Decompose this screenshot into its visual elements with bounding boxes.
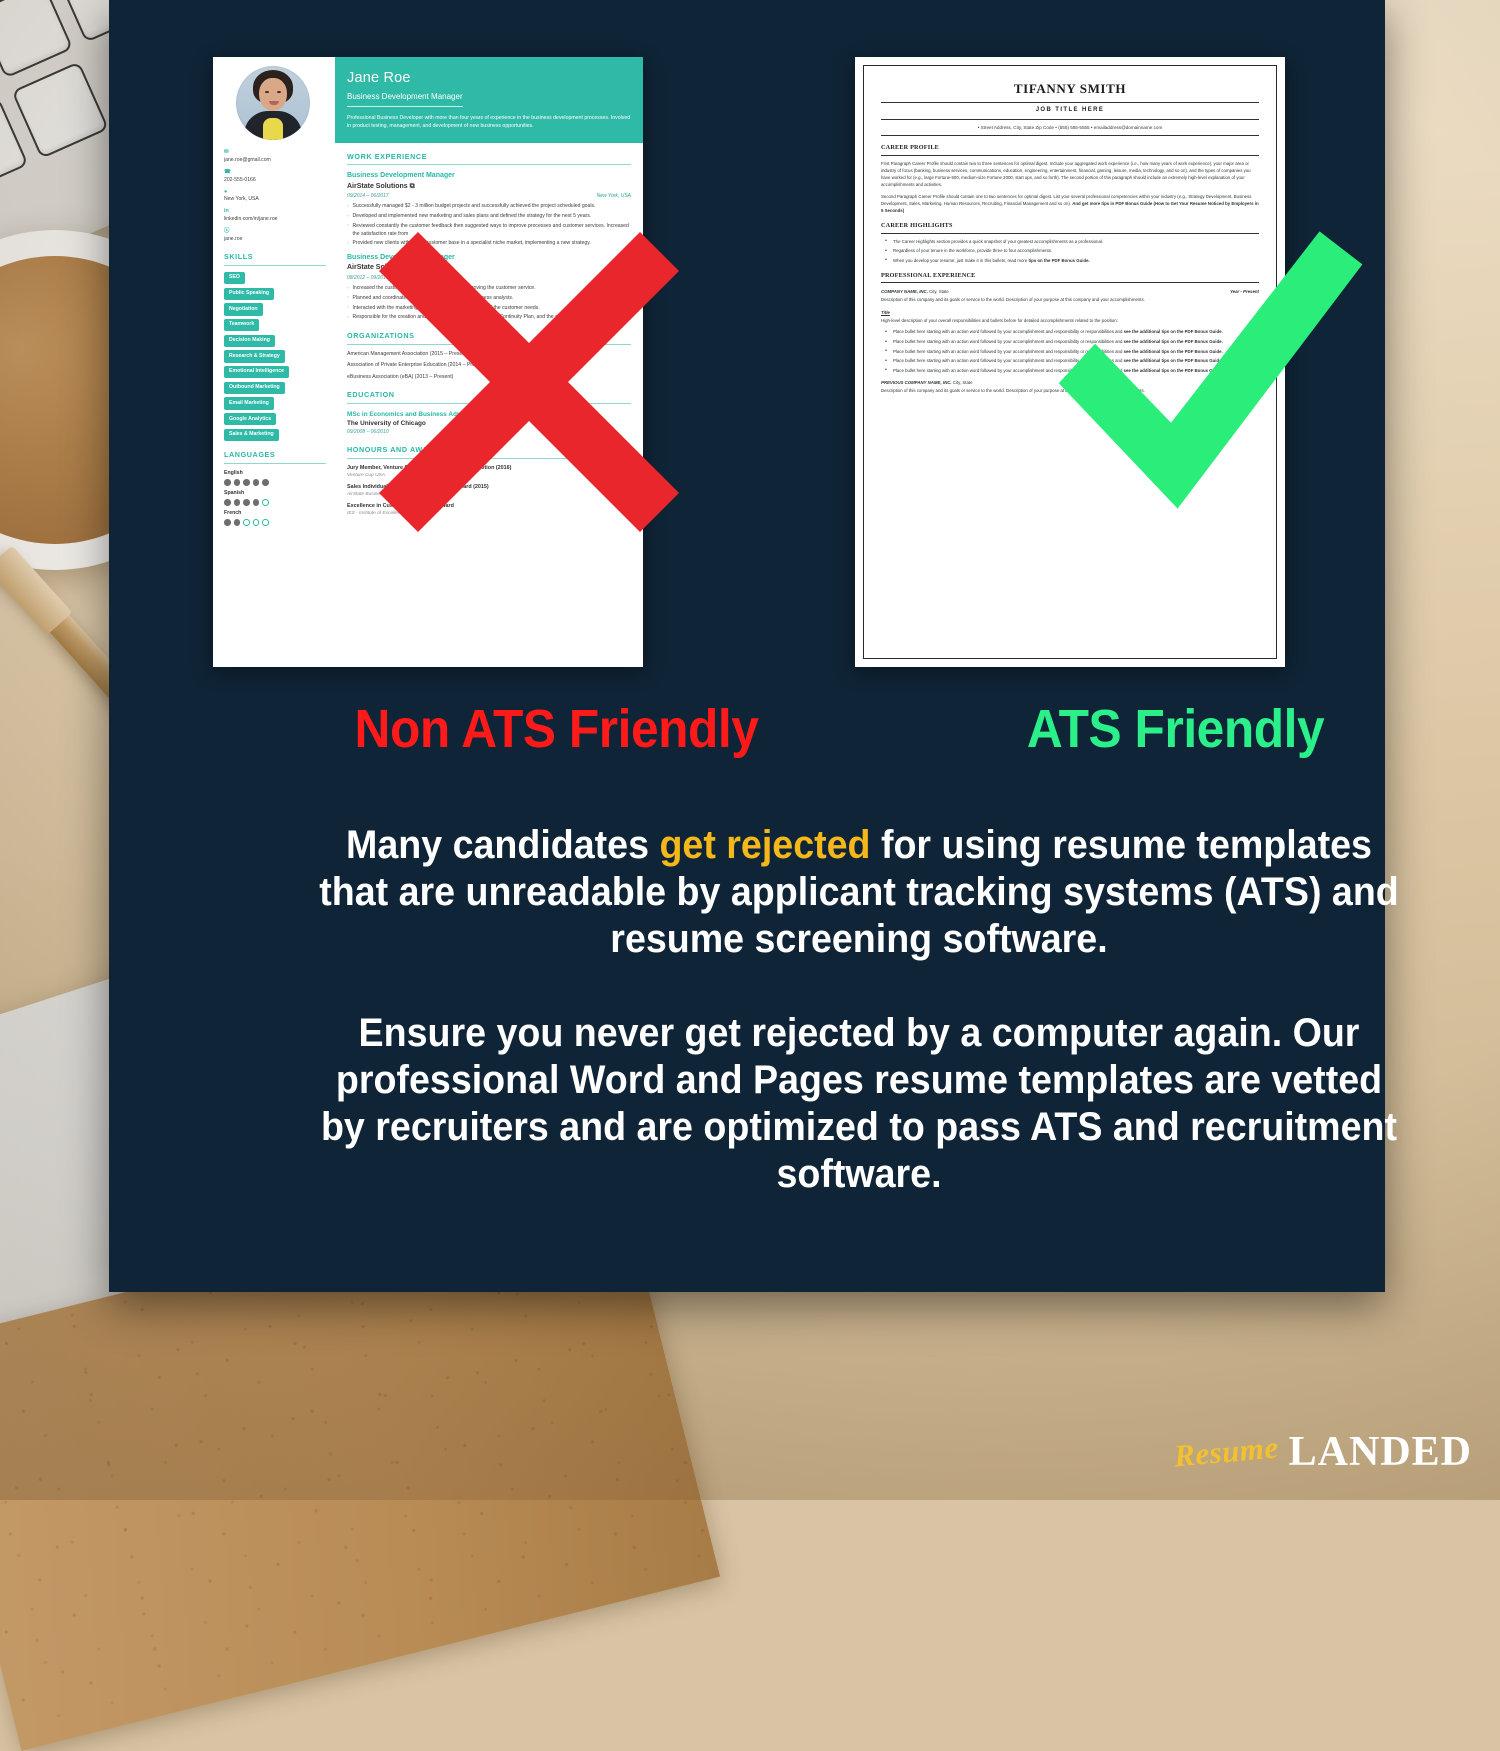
contact-item-linkedin[interactable]: in linkedin.com/in/jane.roe bbox=[224, 209, 326, 223]
ats-highlight-text: When you develop your resume, just make … bbox=[893, 258, 1028, 263]
award-title: Jury Member, Venture Cup Entrepreneurshi… bbox=[347, 465, 631, 473]
skill-tag: Teamwork bbox=[224, 319, 259, 331]
ats-highlight-text: The Career Highlights section provides a… bbox=[893, 239, 1103, 244]
level-dot bbox=[224, 479, 231, 486]
job-dates: 09/2014 – 06/2017 bbox=[347, 193, 389, 200]
skill-tag: Decision Making bbox=[224, 335, 275, 347]
contact-item-location[interactable]: ● New York, USA bbox=[224, 190, 326, 204]
ats-title-desc: High-level description of your overall r… bbox=[881, 317, 1259, 324]
job-company: AirState Solutions ⧉ bbox=[347, 182, 631, 192]
copy-p1-part-a: Many candidates bbox=[346, 823, 659, 867]
languages-heading: LANGUAGES bbox=[224, 450, 326, 463]
ats-highlights-heading: CAREER HIGHLIGHTS bbox=[881, 221, 1259, 234]
skill-tag: Research & Strategy bbox=[224, 350, 285, 362]
skill-tag: Email Marketing bbox=[224, 397, 274, 409]
language-level-dots bbox=[224, 479, 326, 486]
ats-experience-bullet: Place bullet here starting with an actio… bbox=[881, 367, 1259, 374]
copy-p1-highlight: get rejected bbox=[659, 823, 870, 867]
ats-company-2-years: Year - Present bbox=[1230, 379, 1259, 386]
resume-header-banner: Jane Roe Business Development Manager Pr… bbox=[335, 57, 643, 143]
work-experience-list: Business Development ManagerAirState Sol… bbox=[347, 171, 631, 322]
ats-company-1-years: Year - Present bbox=[1230, 288, 1259, 295]
ats-highlight-bullet: When you develop your resume, just make … bbox=[881, 257, 1259, 264]
ats-highlight-bold: tips on the PDF Bonus Guide. bbox=[1028, 258, 1089, 263]
ats-experience-bullets: Place bullet here starting with an actio… bbox=[881, 328, 1259, 374]
job-bullet: Responsible for the creation and impleme… bbox=[347, 314, 631, 322]
education-heading: EDUCATION bbox=[347, 390, 631, 403]
language-item: French bbox=[224, 510, 326, 526]
level-dot bbox=[224, 519, 231, 526]
ats-experience-bullet: Place bullet here starting with an actio… bbox=[881, 338, 1259, 345]
ats-bullet-text: Place bullet here starting with an actio… bbox=[893, 329, 1124, 334]
awards-list: Jury Member, Venture Cup Entrepreneurshi… bbox=[347, 465, 631, 518]
work-experience-item: Business Development ManagerAirState Sol… bbox=[347, 253, 631, 322]
copy-paragraph-1: Many candidates get rejected for using r… bbox=[319, 822, 1400, 962]
job-bullet: Developed and implemented new marketing … bbox=[347, 213, 631, 221]
creative-resume-page: ✉ jane.roe@gmail.com ☎ 202-555-0166 ● Ne… bbox=[213, 57, 643, 667]
language-name: Spanish bbox=[224, 490, 326, 498]
ats-resume-preview[interactable]: TIFANNY SMITH JOB TITLE HERE • Street Ad… bbox=[855, 57, 1285, 667]
navy-content-panel: ✉ jane.roe@gmail.com ☎ 202-555-0166 ● Ne… bbox=[109, 0, 1385, 1292]
ats-career-profile-p2: Second Paragraph Career Profile should c… bbox=[881, 193, 1259, 214]
ats-experience-bullet: Place bullet here starting with an actio… bbox=[881, 357, 1259, 364]
resume-summary: Professional Business Developer with mor… bbox=[347, 114, 631, 131]
skills-heading: SKILLS bbox=[224, 252, 326, 265]
job-bullet: Planned and coordinated the daily activi… bbox=[347, 295, 631, 303]
organization-item: American Management Association (2015 – … bbox=[347, 351, 631, 359]
language-level-dots bbox=[224, 519, 326, 526]
ats-experience-bullet: Place bullet here starting with an actio… bbox=[881, 328, 1259, 335]
award-org: IES - Institute of Excellence in Sales bbox=[347, 511, 631, 518]
logo-word-landed: LANDED bbox=[1289, 1428, 1472, 1476]
organization-item: Association of Private Enterprise Educat… bbox=[347, 362, 631, 370]
ats-resume-page: TIFANNY SMITH JOB TITLE HERE • Street Ad… bbox=[855, 57, 1285, 667]
logo-word-resume: Resume bbox=[1173, 1430, 1280, 1475]
job-meta: 08/2012 – 09/2014Chicago, USA bbox=[347, 275, 631, 282]
skills-tag-list: SEOPublic SpeakingNegotiationTeamworkDec… bbox=[224, 272, 326, 441]
ats-contact-line: • Street Address, City, State Zip Code •… bbox=[881, 120, 1259, 136]
job-company: AirState Solutions bbox=[347, 263, 631, 273]
ats-company-2-name-text: PREVIOUS COMPANY NAME, INC. bbox=[881, 380, 952, 385]
contact-email-text: jane.roe@gmail.com bbox=[224, 157, 326, 164]
level-dot bbox=[262, 519, 269, 526]
skill-tag: Emotional Intelligence bbox=[224, 366, 289, 378]
ats-highlight-bullet: Regardless of your tenure in the workfor… bbox=[881, 247, 1259, 254]
resume-job-title: Business Development Manager bbox=[347, 91, 463, 107]
language-level-dots bbox=[224, 499, 326, 506]
brand-logo[interactable]: Resume LANDED bbox=[1174, 1428, 1472, 1476]
non-ats-label: Non ATS Friendly bbox=[355, 698, 759, 760]
resume-main-column: Jane Roe Business Development Manager Pr… bbox=[335, 57, 643, 667]
level-dot bbox=[243, 479, 250, 486]
resume-name: Jane Roe bbox=[347, 68, 631, 89]
ats-bullet-text: Place bullet here starting with an actio… bbox=[893, 368, 1124, 373]
ats-company-1-name: COMPANY NAME, INC. City, State bbox=[881, 288, 949, 295]
level-dot bbox=[253, 479, 260, 486]
education-entry: MSc in Economics and Business Administra… bbox=[347, 410, 631, 437]
organization-item: eBusiness Association (eBA) (2013 – Pres… bbox=[347, 374, 631, 382]
ats-label: ATS Friendly bbox=[1027, 698, 1324, 760]
avatar bbox=[236, 66, 310, 140]
ats-company-2-line: PREVIOUS COMPANY NAME, INC. City, State … bbox=[881, 379, 1259, 386]
ats-company-2-desc: Description of this company and its goal… bbox=[881, 387, 1259, 394]
work-experience-heading: WORK EXPERIENCE bbox=[347, 152, 631, 165]
level-dot bbox=[234, 499, 241, 506]
ats-career-profile-heading: CAREER PROFILE bbox=[881, 143, 1259, 156]
ats-company-2-name: PREVIOUS COMPANY NAME, INC. City, State bbox=[881, 379, 973, 386]
organizations-heading: ORGANIZATIONS bbox=[347, 331, 631, 344]
award-item: Excellence in Customer Partnering AwardI… bbox=[347, 503, 631, 518]
ats-highlight-text: Regardless of your tenure in the workfor… bbox=[893, 248, 1052, 253]
ats-bullet-text: Place bullet here starting with an actio… bbox=[893, 339, 1124, 344]
award-org: Venture Cup USA bbox=[347, 473, 631, 480]
award-item: Jury Member, Venture Cup Entrepreneurshi… bbox=[347, 465, 631, 480]
ats-bullet-bold: see the additional tips on the PDF Bonus… bbox=[1124, 339, 1223, 344]
ats-bullet-bold: see the additional tips on the PDF Bonus… bbox=[1124, 368, 1223, 373]
contact-location-text: New York, USA bbox=[224, 196, 326, 203]
ats-job-title: JOB TITLE HERE bbox=[881, 103, 1259, 120]
education-degree: MSc in Economics and Business Administra… bbox=[347, 410, 631, 419]
job-dates: 08/2012 – 09/2014 bbox=[347, 275, 389, 282]
level-dot bbox=[253, 519, 260, 526]
organizations-list: American Management Association (2015 – … bbox=[347, 351, 631, 382]
ats-highlights-list: The Career Highlights section provides a… bbox=[881, 238, 1259, 264]
linkedin-icon: in bbox=[224, 209, 326, 214]
phone-icon: ☎ bbox=[224, 170, 326, 175]
ats-career-profile-p1: First Paragraph Career Profile should co… bbox=[881, 160, 1259, 188]
language-name: French bbox=[224, 510, 326, 518]
level-dot bbox=[234, 479, 241, 486]
ats-company-1-line: COMPANY NAME, INC. City, State Year - Pr… bbox=[881, 288, 1259, 295]
language-name: English bbox=[224, 470, 326, 478]
level-dot bbox=[262, 479, 269, 486]
job-bullet: Provided new clients with a new customer… bbox=[347, 240, 631, 248]
award-org: AirState Business Awards bbox=[347, 492, 631, 499]
skill-tag: Outbound Marketing bbox=[224, 382, 285, 394]
job-bullet: Successfully managed $2 - 3 million budg… bbox=[347, 203, 631, 211]
award-item: Sales Individual & Business Development … bbox=[347, 484, 631, 499]
job-title: Business Development Manager bbox=[347, 171, 631, 181]
non-ats-resume-preview[interactable]: ✉ jane.roe@gmail.com ☎ 202-555-0166 ● Ne… bbox=[213, 57, 643, 667]
job-bullet: Increased the customer retention rate by… bbox=[347, 285, 631, 293]
ats-bullet-bold: see the additional tips on the PDF Bonus… bbox=[1124, 349, 1223, 354]
job-location: Chicago, USA bbox=[600, 275, 631, 282]
level-dot bbox=[243, 519, 250, 526]
job-bullet: Interacted with the marketing department… bbox=[347, 305, 631, 313]
job-bullet: Reviewed constantly the customer feedbac… bbox=[347, 223, 631, 238]
skill-tag: Sales & Marketing bbox=[224, 429, 279, 441]
ats-title-label: Title bbox=[881, 309, 1259, 316]
marketing-copy: Many candidates get rejected for using r… bbox=[319, 822, 1400, 1198]
work-experience-item: Business Development ManagerAirState Sol… bbox=[347, 171, 631, 248]
level-dot bbox=[243, 499, 250, 506]
ats-bullet-text: Place bullet here starting with an actio… bbox=[893, 349, 1124, 354]
contact-item-skype[interactable]: ⓢ jane.roe bbox=[224, 229, 326, 243]
education-dates: 09/2008 – 06/2010 bbox=[347, 429, 631, 436]
ats-name: TIFANNY SMITH bbox=[881, 78, 1259, 103]
education-school: The University of Chicago bbox=[347, 419, 631, 428]
job-bullet-list: Successfully managed $2 - 3 million budg… bbox=[347, 203, 631, 248]
envelope-icon: ✉ bbox=[224, 150, 326, 155]
skill-tag: SEO bbox=[224, 272, 245, 284]
ats-company-2-location: City, State bbox=[953, 380, 973, 385]
ats-highlight-bullet: The Career Highlights section provides a… bbox=[881, 238, 1259, 245]
level-dot bbox=[253, 499, 260, 506]
contact-linkedin-text: linkedin.com/in/jane.roe bbox=[224, 216, 326, 223]
ats-experience-heading: PROFESSIONAL EXPERIENCE bbox=[881, 271, 1259, 284]
job-location: New York, USA bbox=[597, 193, 631, 200]
skill-tag: Negotiation bbox=[224, 303, 263, 315]
ats-bullet-text: Place bullet here starting with an actio… bbox=[893, 358, 1124, 363]
language-item: Spanish bbox=[224, 490, 326, 506]
level-dot bbox=[234, 519, 241, 526]
ats-bullet-bold: see the additional tips on the PDF Bonus… bbox=[1124, 358, 1223, 363]
job-bullet-list: Increased the customer retention rate by… bbox=[347, 285, 631, 322]
resume-sidebar: ✉ jane.roe@gmail.com ☎ 202-555-0166 ● Ne… bbox=[213, 57, 335, 667]
award-title: Sales Individual & Business Development … bbox=[347, 484, 631, 492]
contact-phone-text: 202-555-0166 bbox=[224, 177, 326, 184]
contact-item-email[interactable]: ✉ jane.roe@gmail.com bbox=[224, 150, 326, 164]
copy-paragraph-2: Ensure you never get rejected by a compu… bbox=[319, 1010, 1400, 1197]
contact-skype-text: jane.roe bbox=[224, 236, 326, 243]
language-item: English bbox=[224, 470, 326, 486]
level-dot bbox=[262, 499, 269, 506]
skype-icon: ⓢ bbox=[224, 229, 326, 234]
contact-item-phone[interactable]: ☎ 202-555-0166 bbox=[224, 170, 326, 184]
skill-tag: Google Analytics bbox=[224, 413, 276, 425]
job-title: Business Development Manager bbox=[347, 253, 631, 263]
ats-company-1-name-text: COMPANY NAME, INC. bbox=[881, 289, 928, 294]
awards-heading: HONOURS AND AWARDS bbox=[347, 445, 631, 458]
ats-company-1-desc: Description of this company and its goal… bbox=[881, 296, 1259, 303]
location-pin-icon: ● bbox=[224, 190, 326, 195]
ats-experience-bullet: Place bullet here starting with an actio… bbox=[881, 348, 1259, 355]
ats-company-1-location: City, State bbox=[929, 289, 949, 294]
job-meta: 09/2014 – 06/2017New York, USA bbox=[347, 193, 631, 200]
level-dot bbox=[224, 499, 231, 506]
languages-list: EnglishSpanishFrench bbox=[224, 470, 326, 526]
ats-bullet-bold: see the additional tips on the PDF Bonus… bbox=[1124, 329, 1223, 334]
skill-tag: Public Speaking bbox=[224, 288, 274, 300]
